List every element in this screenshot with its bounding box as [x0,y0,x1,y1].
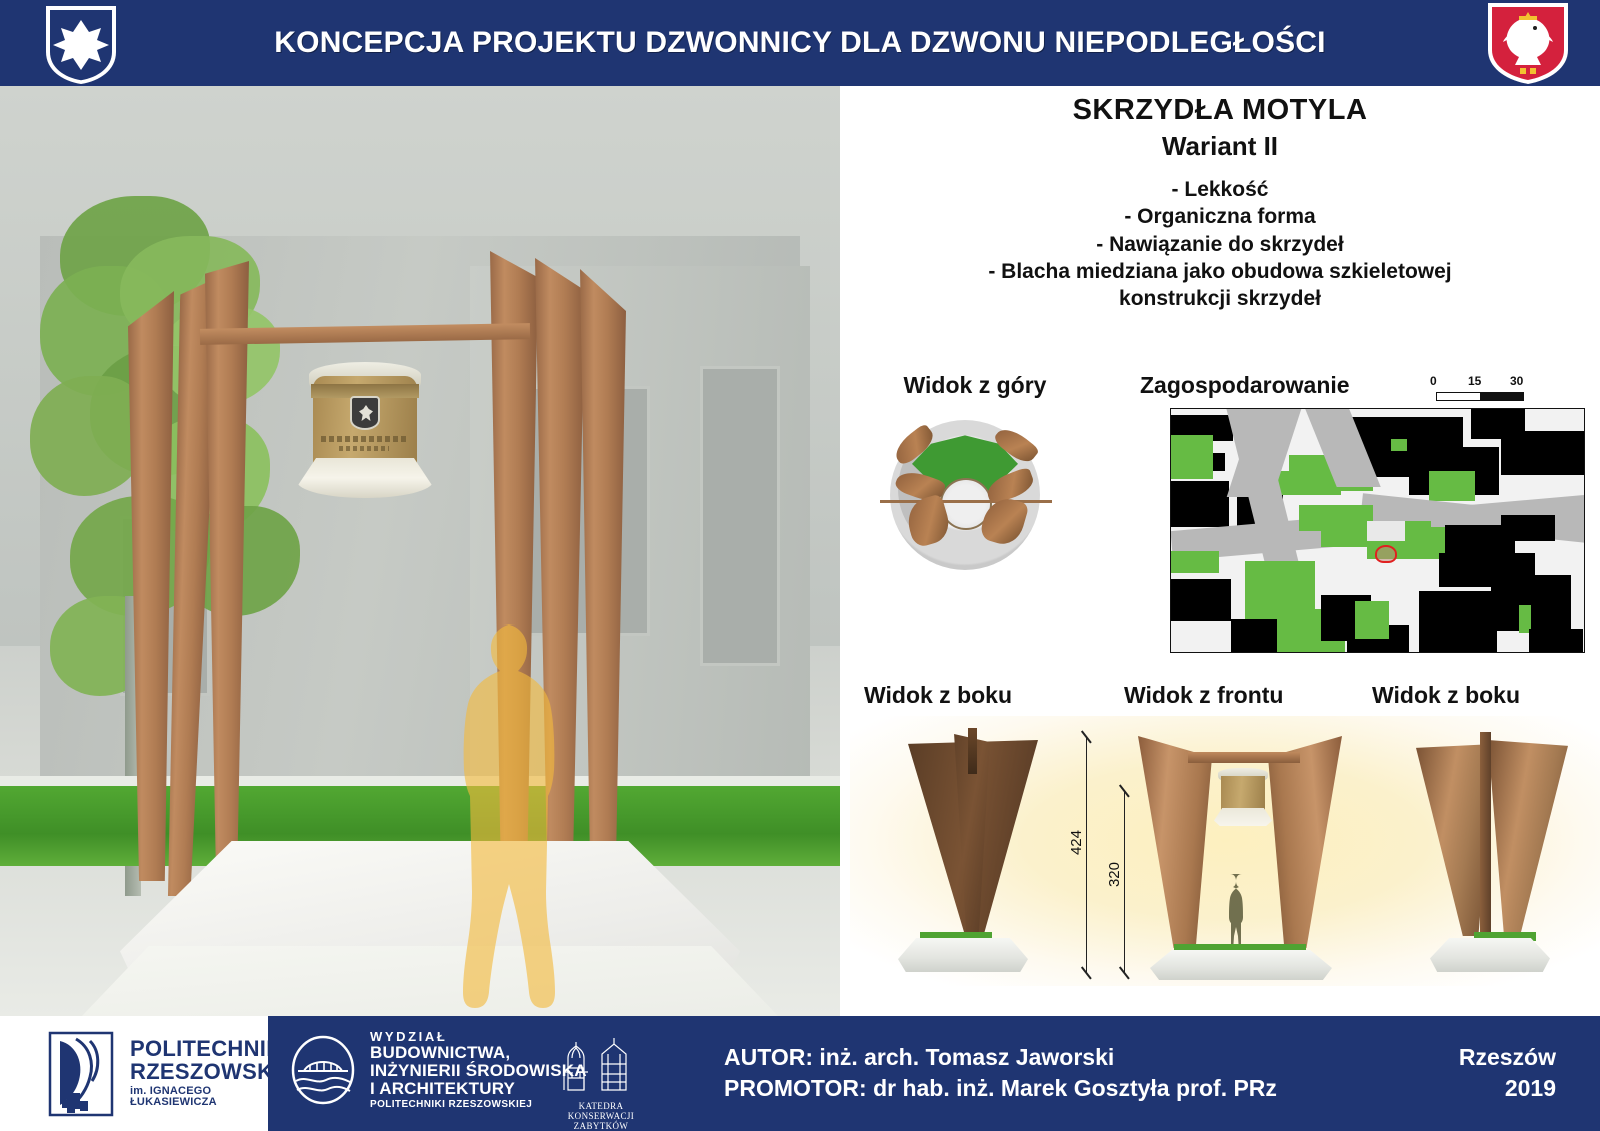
department-line-2: ZABYTKÓW [546,1121,656,1131]
page-header: KONCEPCJA PROJEKTU DZWONNICY DLA DZWONU … [0,0,1600,86]
front-view-bell [1214,766,1272,828]
footer-department-block: KATEDRA KONSERWACJI ZABYTKÓW [546,1032,656,1131]
concept-variant: Wariant II [840,131,1600,162]
side-view-spine [968,728,977,774]
top-view-drawing [856,406,1076,596]
front-view-bell-skirt [1214,808,1272,826]
section-heading-top-view: Widok z góry [860,372,1090,399]
label-front-view: Widok z frontu [1124,682,1283,709]
side-view-right-drawing [1396,726,1586,976]
label-side-view-right: Widok z boku [1372,682,1520,709]
scale-bar-graphic [1436,392,1524,401]
side-view-right-wing-right [1488,740,1568,936]
author-line: AUTOR: inż. arch. Tomasz Jaworski [724,1042,1277,1073]
department-line-1: KATEDRA KONSERWACJI [546,1101,656,1121]
front-view-wing-right [1268,736,1342,948]
bell-skirt [297,458,433,498]
front-view-wing-left [1138,736,1212,948]
scale-tick-15: 15 [1468,374,1481,388]
footer-year: 2019 [1459,1073,1556,1104]
front-view-bell-body [1221,776,1265,812]
front-view-beam [1188,752,1300,763]
scale-tick-0: 0 [1430,374,1437,388]
concept-title-block: SKRZYDŁA MOTYLA Wariant II - Lekkość - O… [840,94,1600,312]
label-side-view-left: Widok z boku [864,682,1012,709]
front-view-human-scale-figure [1222,872,1262,954]
render-bell [295,358,435,503]
historic-buildings-icon [546,1032,656,1094]
side-view-left-drawing [880,726,1070,976]
side-view-right-spine [1480,732,1491,938]
dimension-value-424: 424 [1068,830,1085,855]
page-title: KONCEPCJA PROJEKTU DZWONNICY DLA DZWONU … [0,0,1600,86]
bell-inscription [321,436,409,442]
bell-inscription-second-line [339,446,389,451]
concept-bullet-list: - Lekkość - Organiczna forma - Nawiązani… [840,176,1600,312]
right-content-panel: SKRZYDŁA MOTYLA Wariant II - Lekkość - O… [840,86,1600,1016]
footer-blue-bar: WYDZIAŁ BUDOWNICTWA, INŻYNIERII ŚRODOWIS… [268,1016,1600,1131]
top-view-beam-axis [880,500,1052,503]
concept-bullet: konstrukcji skrzydeł [840,285,1600,312]
concept-bullet: - Nawiązanie do skrzydeł [840,231,1600,258]
polish-eagle-coat-of-arms-icon [1486,2,1570,86]
site-plan-map [1170,408,1585,653]
side-view-right-plinth [1430,938,1550,972]
dimension-value-320: 320 [1106,862,1123,887]
concept-bullet: - Blacha miedziana jako obudowa szkielet… [840,258,1600,285]
render-window [700,366,780,666]
footer-university-block: POLITECHNIKA RZESZOWSKA im. IGNACEGO ŁUK… [0,1016,268,1131]
concept-bullet: - Lekkość [840,176,1600,203]
front-view-plinth [1150,950,1332,980]
render-human-scale-figure [430,616,605,1016]
site-location-marker [1375,545,1397,563]
bridge-in-circle-icon [288,1035,358,1105]
main-visualization-render [0,86,840,1016]
section-heading-site-plan: Zagospodarowanie [1140,372,1420,399]
front-view-drawing [1126,722,1356,980]
page-footer: POLITECHNIKA RZESZOWSKA im. IGNACEGO ŁUK… [0,1016,1600,1131]
footer-faculty-block: WYDZIAŁ BUDOWNICTWA, INŻYNIERII ŚRODOWIS… [288,1030,587,1110]
concept-bullet: - Organiczna forma [840,203,1600,230]
elevation-labels: Widok z boku Widok z frontu Widok z boku [840,682,1600,716]
scale-tick-30: 30 [1510,374,1523,388]
side-view-plinth [898,938,1028,972]
footer-place-block: Rzeszów 2019 [1459,1042,1556,1105]
site-plan-scale-bar: 0 15 30 [1430,374,1540,408]
promotor-line: PROMOTOR: dr hab. inż. Marek Gosztyła pr… [724,1073,1277,1104]
footer-city: Rzeszów [1459,1042,1556,1073]
concept-title: SKRZYDŁA MOTYLA [840,94,1600,127]
bell-eagle-crest-icon [350,396,380,430]
prz-monogram-logo-icon [46,1031,116,1117]
footer-authors-block: AUTOR: inż. arch. Tomasz Jaworski PROMOT… [724,1042,1277,1105]
